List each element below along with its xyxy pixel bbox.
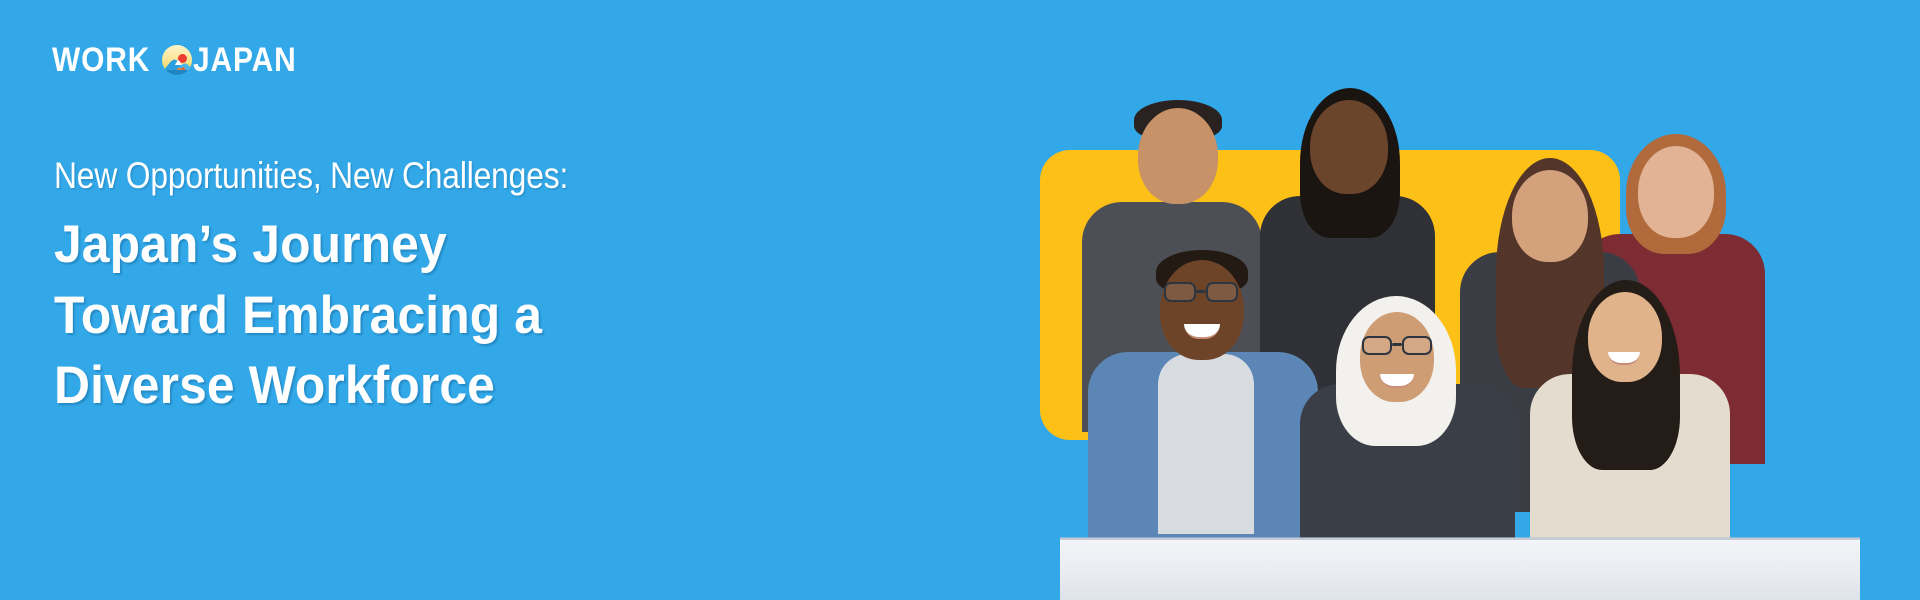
hero-banner: WORK JAPAN New Opportunities, New Challe… <box>0 0 1920 600</box>
eyeglasses-icon <box>1164 282 1196 302</box>
mount-fuji-sun-circle-icon <box>162 45 192 75</box>
person-head <box>1360 312 1434 402</box>
eyeglasses-bridge <box>1392 343 1402 346</box>
person-head <box>1160 260 1244 360</box>
eyeglasses-bridge <box>1196 290 1206 293</box>
person-head <box>1588 292 1662 382</box>
headline-line-1: Japan’s Journey <box>54 210 787 280</box>
eyeglasses-icon <box>1362 336 1392 355</box>
logo-text-work: WORK <box>52 43 150 77</box>
person-hoodie <box>1158 354 1254 534</box>
hero-eyebrow: New Opportunities, New Challenges: <box>54 155 725 196</box>
headline-line-3: Diverse Workforce <box>54 351 787 421</box>
person-head <box>1138 108 1218 204</box>
hero-copy: New Opportunities, New Challenges: Japan… <box>54 155 834 422</box>
person-head <box>1638 146 1714 238</box>
person-head <box>1310 100 1388 194</box>
hero-artwork <box>1040 0 1920 600</box>
group-photo <box>1060 84 1860 600</box>
person-head <box>1512 170 1588 262</box>
workjapan-logo[interactable]: WORK JAPAN <box>52 40 310 80</box>
water-shape <box>162 70 192 75</box>
headline-line-2: Toward Embracing a <box>54 281 787 351</box>
white-table-surface <box>1060 538 1860 600</box>
eyeglasses-icon <box>1402 336 1432 355</box>
hero-headline: Japan’s Journey Toward Embracing a Diver… <box>54 210 787 421</box>
logo-text-japan: JAPAN <box>193 43 297 77</box>
eyeglasses-icon <box>1206 282 1238 302</box>
